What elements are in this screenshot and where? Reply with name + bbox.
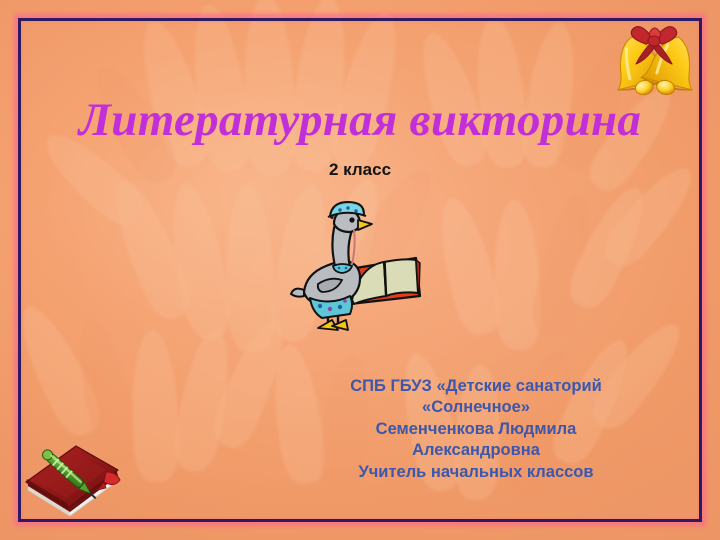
author-line-4: Александровна: [330, 440, 622, 461]
author-line-2: «Солнечное»: [330, 397, 622, 418]
goose-reading-icon: [288, 200, 424, 336]
bells-icon: [606, 18, 702, 100]
author-line-5: Учитель начальных классов: [330, 462, 622, 483]
presentation-slide: Литературная викторина 2 класс СПБ ГБУЗ …: [0, 0, 720, 540]
book-with-pen-icon: [20, 438, 124, 524]
page-subtitle: 2 класс: [0, 160, 720, 180]
author-line-3: Семенченкова Людмила: [330, 419, 622, 440]
author-line-1: СПБ ГБУЗ «Детские санаторий: [330, 376, 622, 397]
page-title: Литературная викторина: [0, 96, 720, 145]
author-info-block: СПБ ГБУЗ «Детские санаторий «Солнечное» …: [330, 376, 622, 483]
